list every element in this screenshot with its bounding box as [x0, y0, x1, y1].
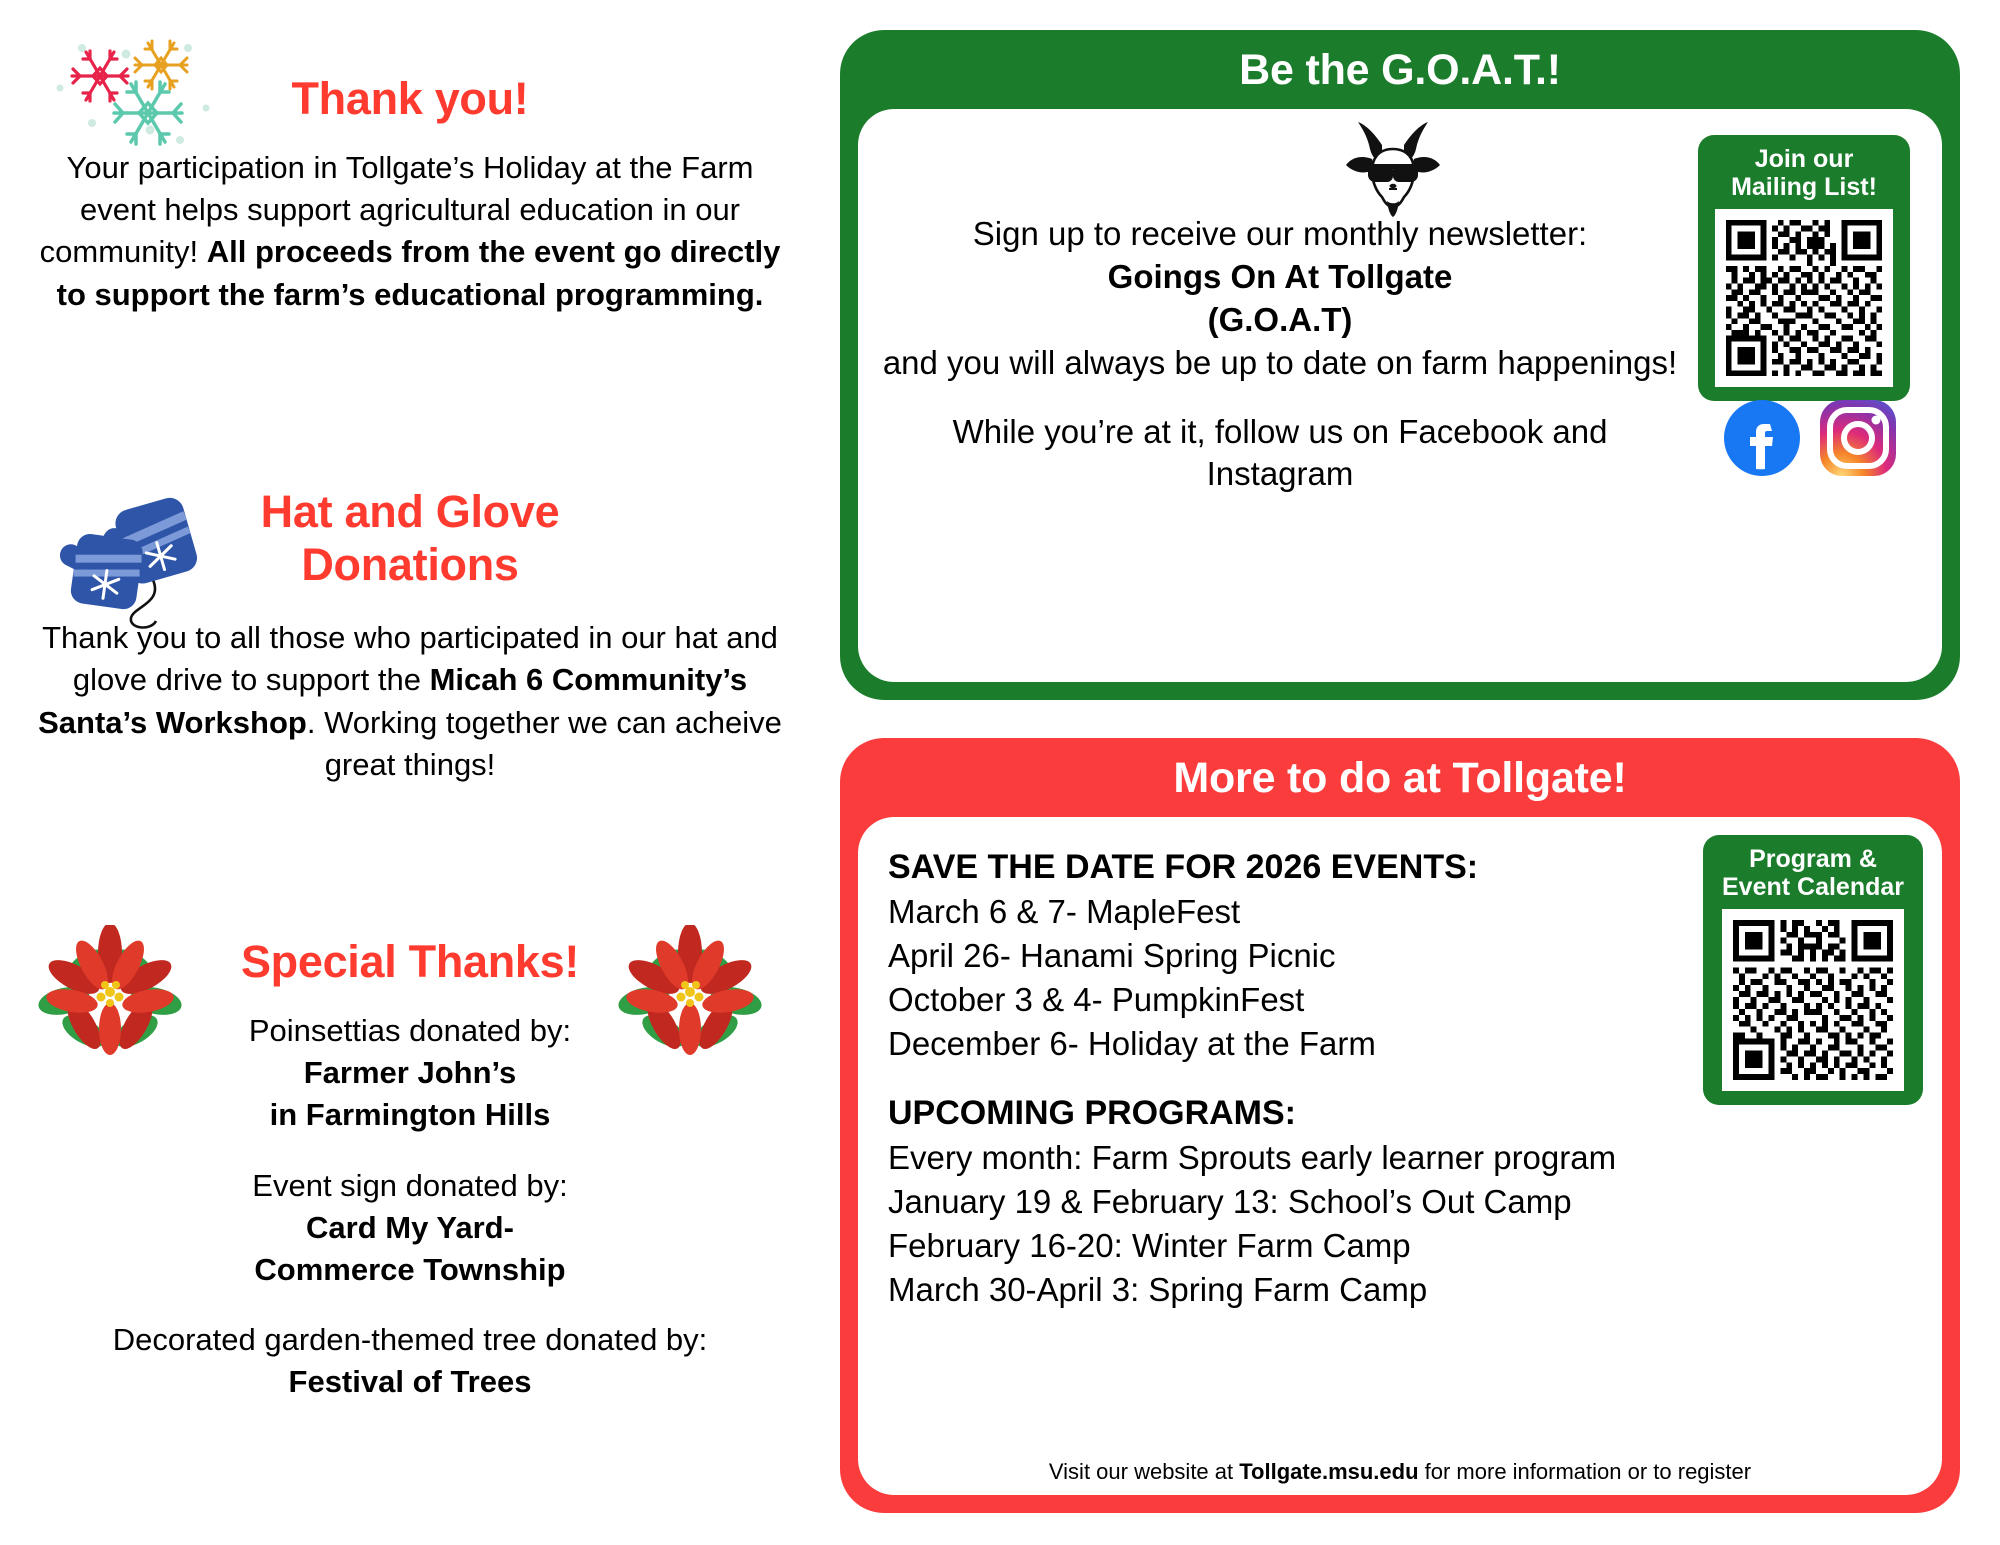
- facebook-icon[interactable]: [1723, 399, 1801, 477]
- donation-label: Poinsettias donated by:: [35, 1010, 785, 1052]
- section-spacer: [888, 1065, 1678, 1091]
- flyer-page: Thank you! Your participation in Tollgat…: [0, 0, 2000, 1545]
- thank-you-heading: Thank you!: [35, 72, 785, 125]
- hat-glove-paragraph: Thank you to all those who participated …: [35, 617, 785, 786]
- event-item: March 6 & 7- MapleFest: [888, 890, 1678, 934]
- instagram-icon[interactable]: [1819, 399, 1897, 477]
- save-the-date-heading: SAVE THE DATE FOR 2026 EVENTS:: [888, 845, 1678, 890]
- goat-line-3: (G.O.A.T): [1208, 301, 1353, 338]
- goat-line-4: and you will always be up to date on far…: [883, 344, 1677, 381]
- goat-card-body: Sign up to receive our monthly newslette…: [858, 109, 1942, 682]
- program-item: January 19 & February 13: School’s Out C…: [888, 1180, 1678, 1224]
- program-calendar-qr-tile[interactable]: Program & Event Calendar: [1703, 835, 1923, 1105]
- donation-value-line-2: in Farmington Hills: [270, 1097, 551, 1132]
- donation-value-line-1: Festival of Trees: [289, 1364, 532, 1399]
- program-item: Every month: Farm Sprouts early learner …: [888, 1136, 1678, 1180]
- footer-prefix: Visit our website at: [1049, 1459, 1239, 1484]
- program-item: March 30-April 3: Spring Farm Camp: [888, 1268, 1678, 1312]
- mailing-list-qr-code[interactable]: [1715, 209, 1893, 387]
- donation-value-line-2: Commerce Township: [254, 1252, 565, 1287]
- hat-glove-plain-2: . Working together we can acheive great …: [307, 705, 782, 782]
- special-thanks-item: Decorated garden-themed tree donated by:…: [35, 1319, 785, 1403]
- left-column: Thank you! Your participation in Tollgat…: [0, 0, 820, 1545]
- goat-line-2: Goings On At Tollgate: [1108, 258, 1453, 295]
- special-thanks-item: Poinsettias donated by: Farmer John’s in…: [35, 1010, 785, 1136]
- goat-card-text: Sign up to receive our monthly newslette…: [880, 213, 1680, 496]
- mailing-list-qr-label: Join our Mailing List!: [1710, 145, 1898, 201]
- goat-card-title: Be the G.O.A.T.!: [840, 30, 1960, 109]
- thank-you-paragraph: Your participation in Tollgate’s Holiday…: [35, 147, 785, 316]
- more-to-do-card-title: More to do at Tollgate!: [840, 738, 1960, 817]
- event-item: October 3 & 4- PumpkinFest: [888, 978, 1678, 1022]
- goat-line-1: Sign up to receive our monthly newslette…: [973, 215, 1587, 252]
- thank-you-section: Thank you! Your participation in Tollgat…: [35, 72, 785, 316]
- footer-website[interactable]: Tollgate.msu.edu: [1239, 1459, 1418, 1484]
- more-to-do-card-body: SAVE THE DATE FOR 2026 EVENTS: March 6 &…: [858, 817, 1942, 1495]
- right-column: Be the G.O.A.T.!: [820, 0, 2000, 1545]
- program-calendar-qr-label: Program & Event Calendar: [1715, 845, 1911, 901]
- special-thanks-heading: Special Thanks!: [35, 935, 785, 988]
- mailing-list-qr-tile[interactable]: Join our Mailing List!: [1698, 135, 1910, 401]
- text-spacer: [880, 385, 1680, 411]
- event-item: December 6- Holiday at the Farm: [888, 1022, 1678, 1066]
- hat-glove-section: Hat and Glove Donations Thank you to all…: [35, 485, 785, 786]
- goat-newsletter-card: Be the G.O.A.T.!: [840, 30, 1960, 700]
- goat-line-5: While you’re at it, follow us on Faceboo…: [953, 413, 1608, 493]
- special-thanks-section: Special Thanks! Poinsettias donated by: …: [35, 935, 785, 1403]
- program-item: February 16-20: Winter Farm Camp: [888, 1224, 1678, 1268]
- hat-glove-heading: Hat and Glove Donations: [35, 485, 785, 591]
- special-thanks-item: Event sign donated by: Card My Yard- Com…: [35, 1165, 785, 1291]
- donation-value-line-1: Farmer John’s: [304, 1055, 516, 1090]
- donation-label: Event sign donated by:: [35, 1165, 785, 1207]
- donation-value-line-1: Card My Yard-: [306, 1210, 514, 1245]
- program-calendar-qr-code[interactable]: [1722, 909, 1904, 1091]
- upcoming-programs-heading: UPCOMING PROGRAMS:: [888, 1091, 1678, 1136]
- event-item: April 26- Hanami Spring Picnic: [888, 934, 1678, 978]
- social-links: [1723, 399, 1903, 477]
- more-to-do-card: More to do at Tollgate! SAVE THE DATE FO…: [840, 738, 1960, 1513]
- events-list-container: SAVE THE DATE FOR 2026 EVENTS: March 6 &…: [888, 845, 1678, 1312]
- footer-suffix: for more information or to register: [1419, 1459, 1752, 1484]
- goat-with-sunglasses-icon: [1338, 117, 1448, 217]
- website-footer: Visit our website at Tollgate.msu.edu fo…: [858, 1459, 1942, 1485]
- donation-label: Decorated garden-themed tree donated by:: [35, 1319, 785, 1361]
